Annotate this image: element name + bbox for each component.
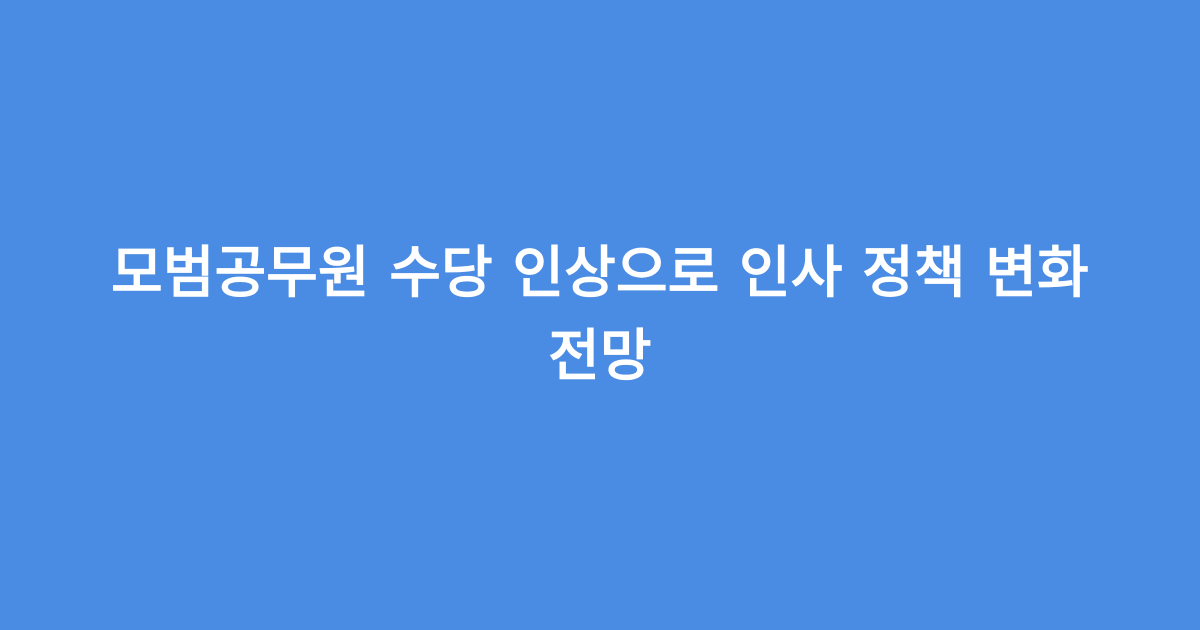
og-card: 모범공무원 수당 인상으로 인사 정책 변화 전망: [0, 0, 1200, 630]
page-title: 모범공무원 수당 인상으로 인사 정책 변화 전망: [95, 232, 1105, 398]
headline-block: 모범공무원 수당 인상으로 인사 정책 변화 전망: [85, 232, 1115, 398]
